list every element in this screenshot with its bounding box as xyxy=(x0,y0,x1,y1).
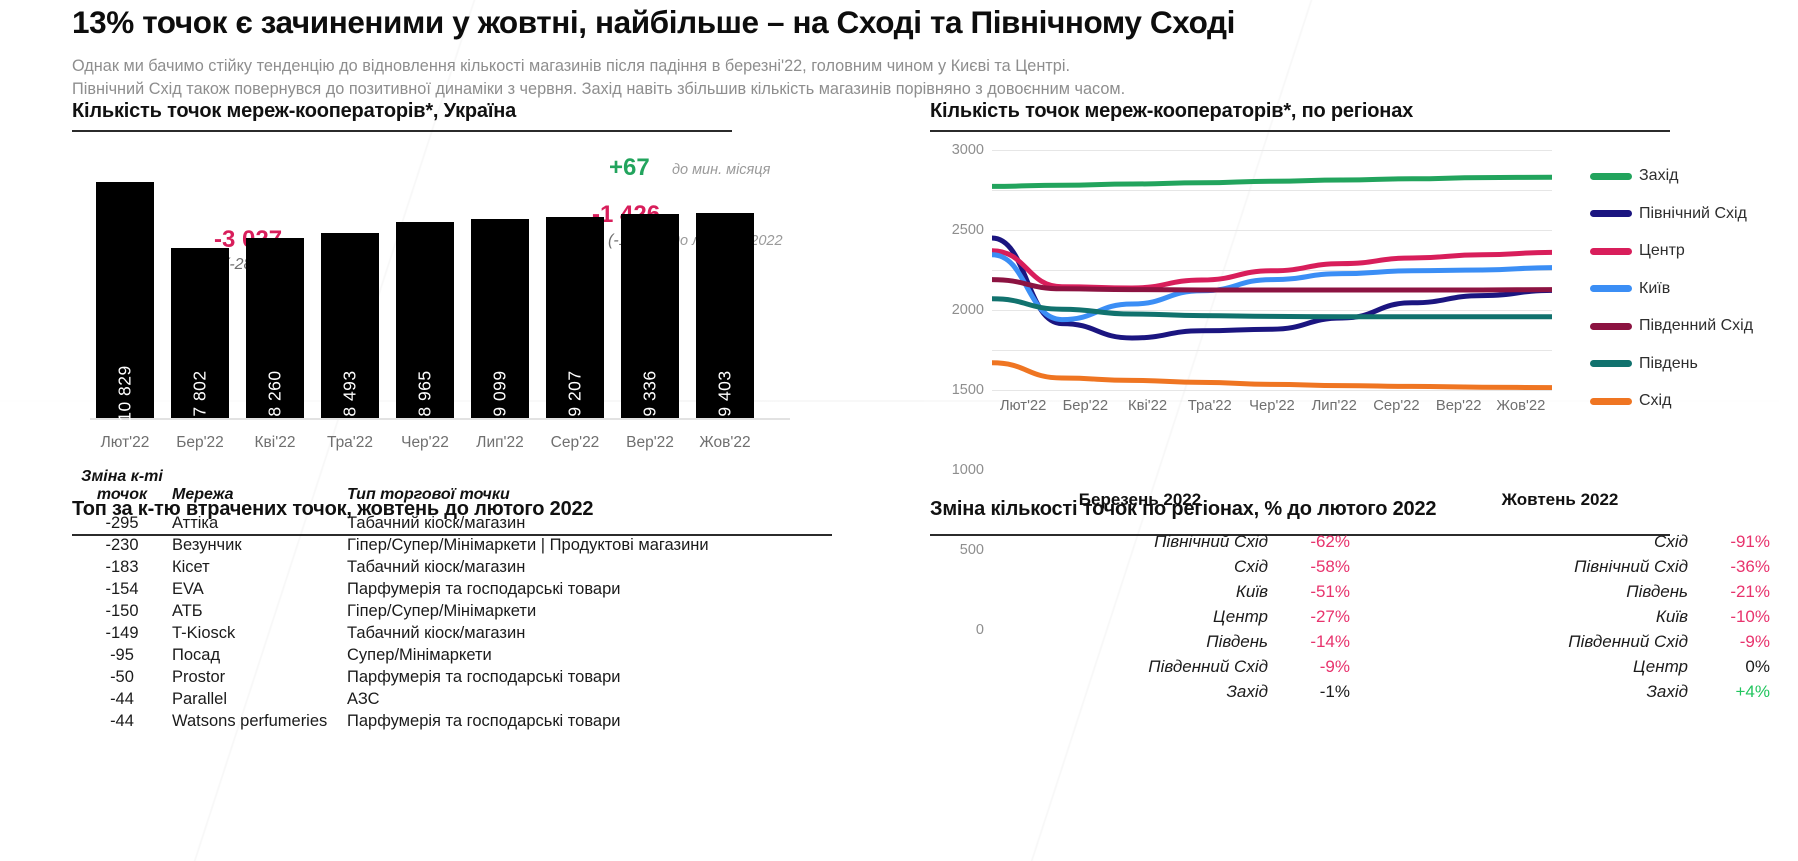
legend-label: Північний Схід xyxy=(1639,205,1747,223)
change-region-name: Захід xyxy=(1226,682,1268,702)
line-series-path xyxy=(992,177,1552,186)
change-region-value: -21% xyxy=(1688,582,1770,602)
bar-column: 9 336 xyxy=(621,214,679,418)
line-chart: 050010001500200025003000 Лют'22Бер'22Кві… xyxy=(930,140,1760,460)
bar-value-label: 7 802 xyxy=(190,370,211,416)
change-column-october: Жовтень 2022 Схід-91%Північний Схід-36%П… xyxy=(1350,490,1770,707)
change-columns: Березень 2022 Північний Схід-62%Схід-58%… xyxy=(930,490,1770,707)
line-plot-area: 050010001500200025003000 xyxy=(992,150,1552,390)
bar-value-label: 9 207 xyxy=(565,370,586,416)
column-header-network: Мережа xyxy=(172,466,347,512)
y-axis-tick-label: 3000 xyxy=(952,142,984,158)
cell-change: -44 xyxy=(72,710,172,732)
change-october-header: Жовтень 2022 xyxy=(1350,490,1770,532)
y-axis-tick-label: 1500 xyxy=(952,382,984,398)
change-region-value: +4% xyxy=(1688,682,1770,702)
change-region-name: Північний Схід xyxy=(1154,532,1268,552)
bar-column: 10 829 xyxy=(96,182,154,418)
change-region-value: -9% xyxy=(1688,632,1770,652)
cell-type: Табачний кіоск/магазин xyxy=(347,556,862,578)
bar-value-label: 8 965 xyxy=(415,370,436,416)
legend-label: Захід xyxy=(1639,167,1678,185)
change-region-name: Південний Схід xyxy=(1148,657,1268,677)
legend-label: Південь xyxy=(1639,355,1698,373)
loss-table: Зміна к-ті точок Мережа Тип торгової точ… xyxy=(72,466,862,732)
change-march-rows: Північний Схід-62%Схід-58%Київ-51%Центр-… xyxy=(930,532,1350,707)
cell-change: -44 xyxy=(72,688,172,710)
table-row: -150АТБГіпер/Супер/Мінімаркети xyxy=(72,600,862,622)
cell-network: Кісет xyxy=(172,556,347,578)
cell-change: -230 xyxy=(72,534,172,556)
bar-value-label: 9 403 xyxy=(715,370,736,416)
bar-column: 9 207 xyxy=(546,217,604,418)
line-x-axis-labels: Лют'22Бер'22Кві'22Тра'22Чер'22Лип'22Сер'… xyxy=(992,398,1552,414)
bar-column: 8 260 xyxy=(246,238,304,418)
cell-type: АЗС xyxy=(347,688,862,710)
change-row: Південний Схід-9% xyxy=(1350,632,1770,657)
bar: 8 965 xyxy=(396,222,454,418)
line-chart-legend: ЗахідПівнічний СхідЦентрКиївПівденний Сх… xyxy=(1590,162,1753,425)
cell-network: T-Kiosck xyxy=(172,622,347,644)
change-region-name: Південний Схід xyxy=(1568,632,1688,652)
legend-item[interactable]: Київ xyxy=(1590,275,1753,303)
change-region-value: -9% xyxy=(1268,657,1350,677)
bar: 9 207 xyxy=(546,217,604,418)
change-region-value: -51% xyxy=(1268,582,1350,602)
change-region-name: Північний Схід xyxy=(1574,557,1688,577)
change-region-name: Південь xyxy=(1626,582,1688,602)
column-header-type: Тип торгової точки xyxy=(347,466,862,512)
change-region-name: Схід xyxy=(1654,532,1688,552)
cell-network: EVA xyxy=(172,578,347,600)
change-march-header: Березень 2022 xyxy=(930,490,1350,532)
cell-type: Парфумерія та господарські товари xyxy=(347,710,862,732)
line-series-path xyxy=(992,299,1552,317)
column-header-change: Зміна к-ті точок xyxy=(72,466,172,512)
change-region-name: Схід xyxy=(1234,557,1268,577)
line-x-label: Вер'22 xyxy=(1428,398,1490,414)
change-row: Південь-14% xyxy=(930,632,1350,657)
change-row: Захід+4% xyxy=(1350,682,1770,707)
bar: 9 403 xyxy=(696,213,754,418)
subline-line-1: Однак ми бачимо стійку тенденцію до відн… xyxy=(72,55,1532,78)
line-x-label: Кві'22 xyxy=(1116,398,1178,414)
change-region-value: -27% xyxy=(1268,607,1350,627)
table-row: -44Watsons perfumeriesПарфумерія та госп… xyxy=(72,710,862,732)
bar-chart: -3 027 (-28%) +67 до мин. місяця -1 426 … xyxy=(72,140,812,460)
change-row: Північний Схід-36% xyxy=(1350,557,1770,582)
change-row: Схід-58% xyxy=(930,557,1350,582)
change-october-rows: Схід-91%Північний Схід-36%Південь-21%Киї… xyxy=(1350,532,1770,707)
cell-change: -150 xyxy=(72,600,172,622)
cell-change: -95 xyxy=(72,644,172,666)
change-region-value: -1% xyxy=(1268,682,1350,702)
change-region-name: Київ xyxy=(1236,582,1268,602)
cell-network: Parallel xyxy=(172,688,347,710)
bar: 10 829 xyxy=(96,182,154,418)
bar: 7 802 xyxy=(171,248,229,418)
legend-swatch-icon xyxy=(1590,285,1632,292)
change-region-name: Київ xyxy=(1656,607,1688,627)
legend-item[interactable]: Південь xyxy=(1590,350,1753,378)
change-column-march: Березень 2022 Північний Схід-62%Схід-58%… xyxy=(930,490,1350,707)
page-subline: Однак ми бачимо стійку тенденцію до відн… xyxy=(72,55,1532,101)
change-row: Захід-1% xyxy=(930,682,1350,707)
line-chart-title: Кількість точок мереж-кооператорів*, по … xyxy=(930,100,1413,123)
change-region-value: -10% xyxy=(1688,607,1770,627)
change-row: Київ-51% xyxy=(930,582,1350,607)
bar-value-label: 9 099 xyxy=(490,370,511,416)
table-row: -50ProstorПарфумерія та господарські тов… xyxy=(72,666,862,688)
cell-network: Prostor xyxy=(172,666,347,688)
cell-type: Табачний кіоск/магазин xyxy=(347,512,862,534)
cell-type: Супер/Мінімаркети xyxy=(347,644,862,666)
legend-swatch-icon xyxy=(1590,248,1632,255)
cell-change: -50 xyxy=(72,666,172,688)
infographic-page: 13% точок є зачиненими у жовтні, найбіль… xyxy=(0,0,1798,861)
cell-network: Watsons perfumeries xyxy=(172,710,347,732)
bar-value-label: 10 829 xyxy=(115,365,136,422)
y-axis-tick-label: 1000 xyxy=(952,462,984,478)
line-series-path xyxy=(992,363,1552,388)
cell-type: Гіпер/Супер/Мінімаркети | Продуктові маг… xyxy=(347,534,862,556)
line-x-label: Лют'22 xyxy=(992,398,1054,414)
cell-type: Парфумерія та господарські товари xyxy=(347,578,862,600)
loss-table-body: -295АттікаТабачний кіоск/магазин-230Везу… xyxy=(72,512,862,732)
table-row: -295АттікаТабачний кіоск/магазин xyxy=(72,512,862,534)
table-header-row: Зміна к-ті точок Мережа Тип торгової точ… xyxy=(72,466,862,512)
cell-change: -183 xyxy=(72,556,172,578)
line-x-label: Жов'22 xyxy=(1490,398,1552,414)
bar-column: 9 099 xyxy=(471,219,529,418)
cell-change: -149 xyxy=(72,622,172,644)
subline-line-2: Північний Схід також повернувся до позит… xyxy=(72,78,1532,101)
change-region-value: -62% xyxy=(1268,532,1350,552)
change-region-value: 0% xyxy=(1688,657,1770,677)
legend-swatch-icon xyxy=(1590,210,1632,217)
bar-title-rule xyxy=(72,130,732,132)
line-title-rule xyxy=(930,130,1670,132)
cell-type: Табачний кіоск/магазин xyxy=(347,622,862,644)
table-row: -44ParallelАЗС xyxy=(72,688,862,710)
line-series-svg xyxy=(992,150,1552,390)
bar: 8 260 xyxy=(246,238,304,418)
bar: 8 493 xyxy=(321,233,379,418)
change-region-name: Центр xyxy=(1213,607,1268,627)
line-x-label: Бер'22 xyxy=(1054,398,1116,414)
loss-table-head: Зміна к-ті точок Мережа Тип торгової точ… xyxy=(72,466,862,512)
legend-item[interactable]: Схід xyxy=(1590,387,1753,415)
bar-column: 9 403 xyxy=(696,213,754,418)
legend-label: Київ xyxy=(1639,280,1670,298)
table-row: -95ПосадСупер/Мінімаркети xyxy=(72,644,862,666)
change-region-value: -58% xyxy=(1268,557,1350,577)
change-row: Схід-91% xyxy=(1350,532,1770,557)
legend-item[interactable]: Південний Схід xyxy=(1590,312,1753,340)
cell-network: АТБ xyxy=(172,600,347,622)
change-row: Центр0% xyxy=(1350,657,1770,682)
legend-item[interactable]: Північний Схід xyxy=(1590,200,1753,228)
bar: 9 099 xyxy=(471,219,529,418)
y-axis-tick-label: 2500 xyxy=(952,222,984,238)
table-row: -183КісетТабачний кіоск/магазин xyxy=(72,556,862,578)
bar-value-label: 9 336 xyxy=(640,370,661,416)
cell-change: -295 xyxy=(72,512,172,534)
line-x-label: Лип'22 xyxy=(1303,398,1365,414)
change-region-value: -91% xyxy=(1688,532,1770,552)
change-row: Південний Схід-9% xyxy=(930,657,1350,682)
change-row: Центр-27% xyxy=(930,607,1350,632)
line-x-label: Чер'22 xyxy=(1241,398,1303,414)
legend-swatch-icon xyxy=(1590,173,1632,180)
table-row: -149T-KiosckТабачний кіоск/магазин xyxy=(72,622,862,644)
legend-swatch-icon xyxy=(1590,398,1632,405)
table-row: -230ВезунчикГіпер/Супер/Мінімаркети | Пр… xyxy=(72,534,862,556)
bar-column: 8 965 xyxy=(396,222,454,418)
page-headline: 13% точок є зачиненими у жовтні, найбіль… xyxy=(72,4,1772,41)
y-axis-tick-label: 2000 xyxy=(952,302,984,318)
change-region-value: -14% xyxy=(1268,632,1350,652)
cell-network: Везунчик xyxy=(172,534,347,556)
gridline: 0 xyxy=(992,390,1552,391)
change-row: Південь-21% xyxy=(1350,582,1770,607)
legend-item[interactable]: Центр xyxy=(1590,237,1753,265)
change-region-name: Центр xyxy=(1633,657,1688,677)
change-region-name: Захід xyxy=(1646,682,1688,702)
legend-label: Центр xyxy=(1639,242,1685,260)
change-region-name: Південь xyxy=(1206,632,1268,652)
bar-column: 7 802 xyxy=(171,248,229,418)
change-region-value: -36% xyxy=(1688,557,1770,577)
cell-network: Посад xyxy=(172,644,347,666)
cell-type: Гіпер/Супер/Мінімаркети xyxy=(347,600,862,622)
loss-table-panel: Зміна к-ті точок Мережа Тип торгової точ… xyxy=(72,420,872,732)
bar: 9 336 xyxy=(621,214,679,418)
change-row: Київ-10% xyxy=(1350,607,1770,632)
bar-value-label: 8 260 xyxy=(265,370,286,416)
legend-swatch-icon xyxy=(1590,360,1632,367)
bar-chart-title: Кількість точок мереж-кооператорів*, Укр… xyxy=(72,100,516,123)
line-x-label: Тра'22 xyxy=(1179,398,1241,414)
bar-series: 10 8297 8028 2608 4938 9659 0999 2079 33… xyxy=(96,178,784,418)
legend-label: Південний Схід xyxy=(1639,317,1753,335)
change-row: Північний Схід-62% xyxy=(930,532,1350,557)
bar-column: 8 493 xyxy=(321,233,379,418)
legend-swatch-icon xyxy=(1590,323,1632,330)
cell-network: Аттіка xyxy=(172,512,347,534)
bar-value-label: 8 493 xyxy=(340,370,361,416)
annotation-gain-note: до мин. місяця xyxy=(672,162,770,178)
table-row: -154EVAПарфумерія та господарські товари xyxy=(72,578,862,600)
legend-item[interactable]: Захід xyxy=(1590,162,1753,190)
cell-change: -154 xyxy=(72,578,172,600)
cell-type: Парфумерія та господарські товари xyxy=(347,666,862,688)
legend-label: Схід xyxy=(1639,392,1671,410)
line-x-label: Сер'22 xyxy=(1365,398,1427,414)
